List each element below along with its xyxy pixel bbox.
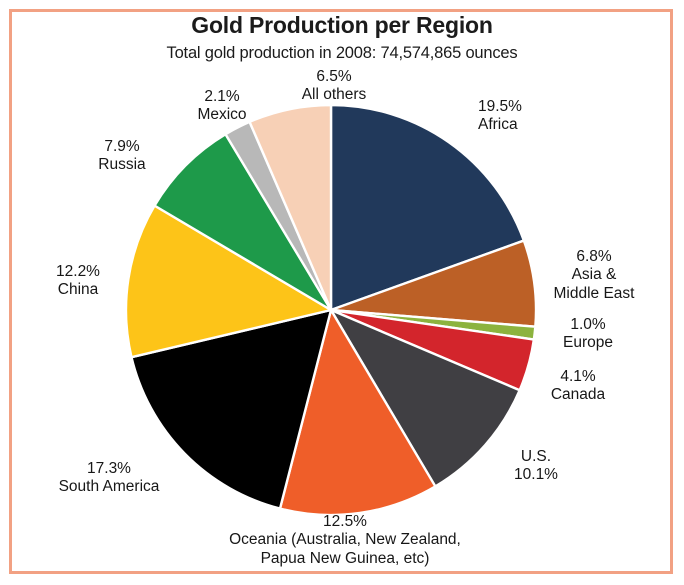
pie-label-all-others-name: All others (278, 86, 390, 104)
pie-label-asia-middle-east-pct: 6.8% (528, 248, 660, 266)
pie-label-oceania-name2: Papua New Guinea, etc) (182, 550, 508, 568)
pie-label-canada-pct: 4.1% (518, 368, 638, 386)
pie-label-south-america-name: South America (24, 478, 194, 496)
pie-label-canada-name: Canada (518, 386, 638, 404)
pie-label-china: 12.2% China (26, 263, 130, 300)
pie-label-mexico-pct: 2.1% (172, 88, 272, 106)
pie-label-mexico-name: Mexico (172, 106, 272, 124)
pie-label-china-name: China (26, 281, 130, 299)
pie-label-oceania-pct: 12.5% (182, 513, 508, 531)
pie-label-oceania: 12.5% Oceania (Australia, New Zealand, P… (182, 513, 508, 568)
pie-label-russia: 7.9% Russia (72, 138, 172, 175)
pie-label-asia-middle-east-name1: Asia & (528, 266, 660, 284)
pie-label-all-others: 6.5% All others (278, 68, 390, 105)
pie-label-europe: 1.0% Europe (528, 316, 648, 353)
pie-label-asia-middle-east: 6.8% Asia & Middle East (528, 248, 660, 303)
pie-label-us: U.S. 10.1% (484, 448, 588, 485)
chart-page: Gold Production per Region Total gold pr… (0, 0, 684, 585)
pie-label-china-pct: 12.2% (26, 263, 130, 281)
pie-label-south-america: 17.3% South America (24, 460, 194, 497)
pie-label-russia-pct: 7.9% (72, 138, 172, 156)
pie-label-south-america-pct: 17.3% (24, 460, 194, 478)
pie-label-us-name: U.S. (484, 448, 588, 466)
pie-label-russia-name: Russia (72, 156, 172, 174)
pie-label-canada: 4.1% Canada (518, 368, 638, 405)
pie-label-europe-pct: 1.0% (528, 316, 648, 334)
pie-label-oceania-name1: Oceania (Australia, New Zealand, (182, 531, 508, 549)
pie-label-africa: 19.5% Africa (478, 98, 522, 135)
pie-label-all-others-pct: 6.5% (278, 68, 390, 86)
pie-label-us-pct: 10.1% (484, 466, 588, 484)
pie-label-europe-name: Europe (528, 334, 648, 352)
pie-label-africa-pct: 19.5% (478, 98, 522, 116)
pie-label-mexico: 2.1% Mexico (172, 88, 272, 125)
pie-label-africa-name: Africa (478, 116, 522, 134)
pie-label-asia-middle-east-name2: Middle East (528, 285, 660, 303)
